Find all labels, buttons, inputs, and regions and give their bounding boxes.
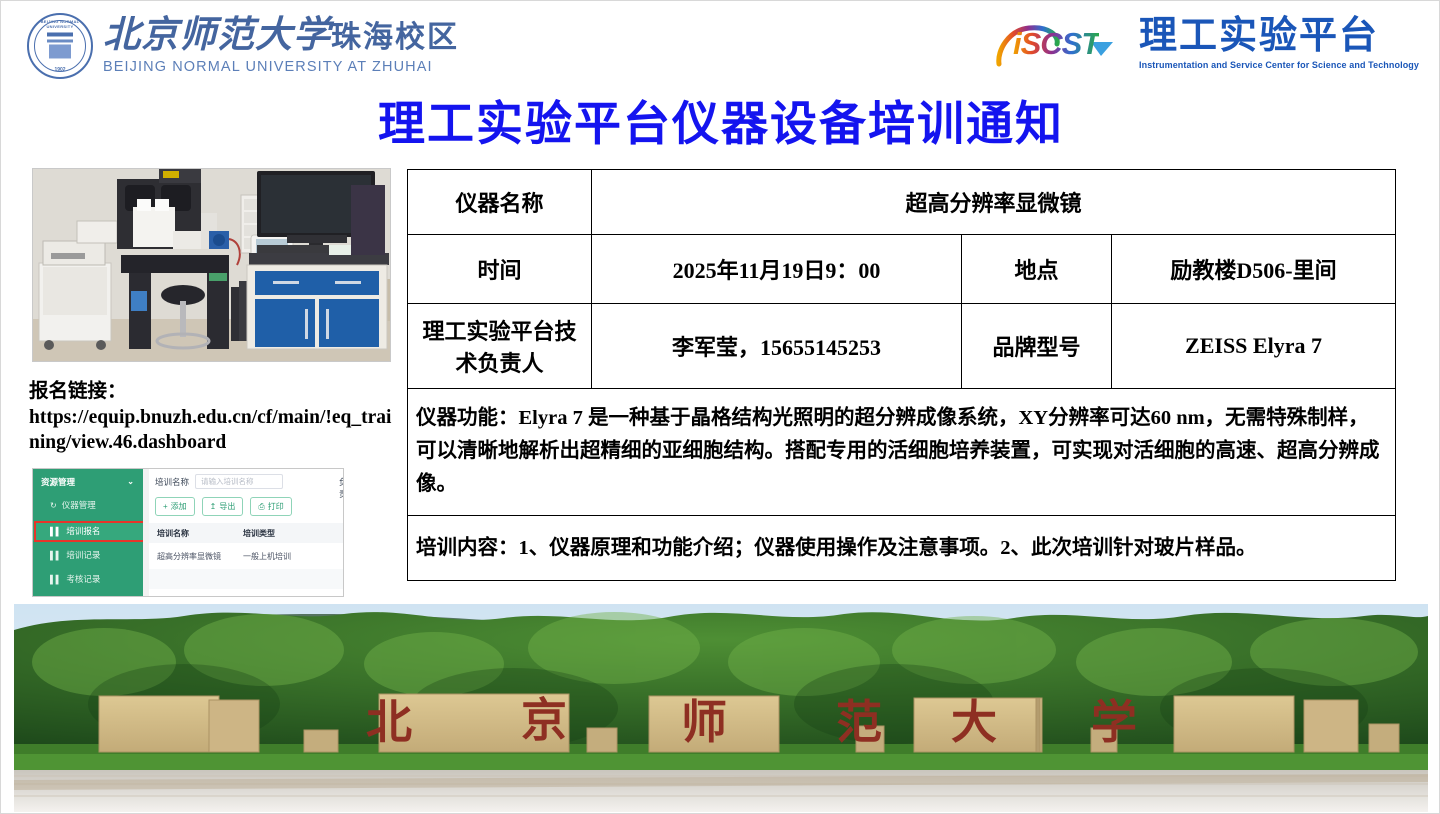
cell-place-value: 励教楼D506-里间 — [1112, 235, 1396, 304]
sidebar-group-header[interactable]: 资源管理 ⌄ — [33, 473, 143, 490]
book-icon: ▌▌ — [50, 551, 61, 560]
cell-instrument-label: 仪器名称 — [408, 170, 592, 235]
cell-training-type: 一般上机培训 — [243, 551, 291, 562]
sidebar-item-instrument-mgmt[interactable]: ↻ 仪器管理 — [33, 495, 143, 515]
registration-link-block: 报名链接： https://equip.bnuzh.edu.cn/cf/main… — [29, 379, 401, 456]
cell-model-label: 品牌型号 — [962, 304, 1112, 389]
iscst-mark-icon: iSCST — [995, 18, 1125, 70]
book-icon: ▌▌ — [50, 575, 61, 584]
filter-row: 培训名称 请输入培训名称 — [155, 474, 283, 489]
campus-photo: 北 京 师 范 大 学 — [14, 604, 1428, 812]
notice-page: BEIJING NORMAL UNIVERSITY 1902 北京师范大学珠海校… — [0, 0, 1440, 814]
registration-label: 报名链接： — [29, 379, 401, 405]
filter-label: 培训名称 — [155, 476, 189, 488]
stone-char: 京 — [521, 695, 567, 746]
instrument-photo — [32, 168, 391, 362]
action-button-group: +添加 ↥导出 ⎙打印 — [155, 497, 292, 516]
cell-content-text: 培训内容：1、仪器原理和功能介绍；仪器使用操作及注意事项。2、此次培训针对玻片样… — [408, 515, 1396, 581]
sidebar-item-label: 培训记录 — [66, 549, 100, 561]
cell-function-text: 仪器功能：Elyra 7 是一种基于晶格结构光照明的超分辨成像系统，XY分辨率可… — [408, 389, 1396, 516]
platform-name-cn: 理工实验平台 — [1139, 17, 1419, 55]
registration-system-screenshot: 资源管理 ⌄ ↻ 仪器管理 ▌▌ 培训报名 ▌▌ 培训记录 ▌▌ 考核记录 — [32, 468, 344, 597]
sidebar-item-training-records[interactable]: ▌▌ 培训记录 — [33, 545, 143, 565]
plus-icon: + — [163, 502, 168, 511]
iscst-wordmark: iSCST — [1013, 26, 1099, 62]
cell-time-value: 2025年11月19日9：00 — [592, 235, 962, 304]
sidebar-item-assessment-records[interactable]: ▌▌ 考核记录 — [33, 569, 143, 589]
sidebar-group-label: 资源管理 — [41, 476, 75, 488]
university-logo: BEIJING NORMAL UNIVERSITY 1902 北京师范大学珠海校… — [27, 13, 459, 79]
stone-char: 学 — [1091, 697, 1137, 748]
cell-contact-label: 理工实验平台技术负责人 — [408, 304, 592, 389]
export-button[interactable]: ↥导出 — [202, 497, 244, 516]
registration-url[interactable]: https://equip.bnuzh.edu.cn/cf/main/!eq_t… — [29, 405, 401, 456]
table-row-time-place: 时间 2025年11月19日9：00 地点 励教楼D506-里间 — [408, 235, 1396, 304]
page-title: 理工实验平台仪器设备培训通知 — [1, 98, 1440, 152]
stone-char: 北 — [366, 697, 412, 748]
table-row-instrument: 仪器名称 超高分辨率显微镜 — [408, 170, 1396, 235]
university-name-cn: 北京师范大学珠海校区 — [103, 17, 459, 54]
add-button[interactable]: +添加 — [155, 497, 195, 516]
cell-place-label: 地点 — [962, 235, 1112, 304]
table-row[interactable]: 超高分辨率显微镜 一般上机培训 — [149, 547, 343, 567]
table-row-function: 仪器功能：Elyra 7 是一种基于晶格结构光照明的超分辨成像系统，XY分辨率可… — [408, 389, 1396, 516]
seal-ring-top-text: BEIJING NORMAL UNIVERSITY — [29, 19, 91, 29]
university-name-en: BEIJING NORMAL UNIVERSITY AT ZHUHAI — [103, 59, 459, 75]
add-button-label: 添加 — [171, 501, 187, 512]
notice-info-table: 仪器名称 超高分辨率显微镜 时间 2025年11月19日9：00 地点 励教楼D… — [407, 169, 1396, 581]
sidebar-item-label: 仪器管理 — [62, 499, 96, 511]
stone-char: 师 — [681, 697, 727, 748]
page-header: BEIJING NORMAL UNIVERSITY 1902 北京师范大学珠海校… — [1, 1, 1440, 93]
seal-gate-icon — [47, 32, 73, 58]
owner-filter-label: 负责 — [339, 476, 344, 500]
export-button-label: 导出 — [219, 501, 235, 512]
refresh-icon: ↻ — [50, 501, 57, 510]
cell-instrument-value: 超高分辨率显微镜 — [592, 170, 1396, 235]
cell-contact-value: 李军莹，15655145253 — [592, 304, 962, 389]
stone-char: 大 — [951, 697, 997, 748]
column-header-name: 培训名称 — [157, 528, 189, 539]
table-row-contact-model: 理工实验平台技术负责人 李军莹，15655145253 品牌型号 ZEISS E… — [408, 304, 1396, 389]
printer-icon: ⎙ — [258, 502, 264, 512]
seal-year: 1902 — [29, 67, 91, 73]
chevron-down-icon: ⌄ — [127, 477, 134, 486]
bnu-seal-icon: BEIJING NORMAL UNIVERSITY 1902 — [27, 13, 93, 79]
stone-char: 范 — [836, 697, 882, 748]
highlight-box — [34, 521, 150, 542]
screenshot-main-panel: 培训名称 请输入培训名称 负责 +添加 ↥导出 ⎙打印 培训名称 培训类型 超高… — [149, 469, 343, 596]
cell-training-name: 超高分辨率显微镜 — [157, 551, 221, 562]
training-name-input[interactable]: 请输入培训名称 — [195, 474, 283, 489]
upload-icon: ↥ — [210, 502, 217, 511]
print-button[interactable]: ⎙打印 — [250, 497, 291, 516]
screenshot-sidebar: 资源管理 ⌄ ↻ 仪器管理 ▌▌ 培训报名 ▌▌ 培训记录 ▌▌ 考核记录 — [33, 469, 143, 596]
cell-time-label: 时间 — [408, 235, 592, 304]
print-button-label: 打印 — [268, 501, 284, 512]
table-row[interactable] — [149, 569, 343, 589]
cell-model-value: ZEISS Elyra 7 — [1112, 304, 1396, 389]
platform-logo: iSCST 理工实验平台 Instrumentation and Service… — [995, 17, 1419, 70]
column-header-type: 培训类型 — [243, 528, 275, 539]
platform-name-en: Instrumentation and Service Center for S… — [1139, 60, 1419, 70]
sidebar-item-label: 考核记录 — [66, 573, 100, 585]
table-header-row: 培训名称 培训类型 — [149, 523, 343, 543]
table-row-content: 培训内容：1、仪器原理和功能介绍；仪器使用操作及注意事项。2、此次培训针对玻片样… — [408, 515, 1396, 581]
